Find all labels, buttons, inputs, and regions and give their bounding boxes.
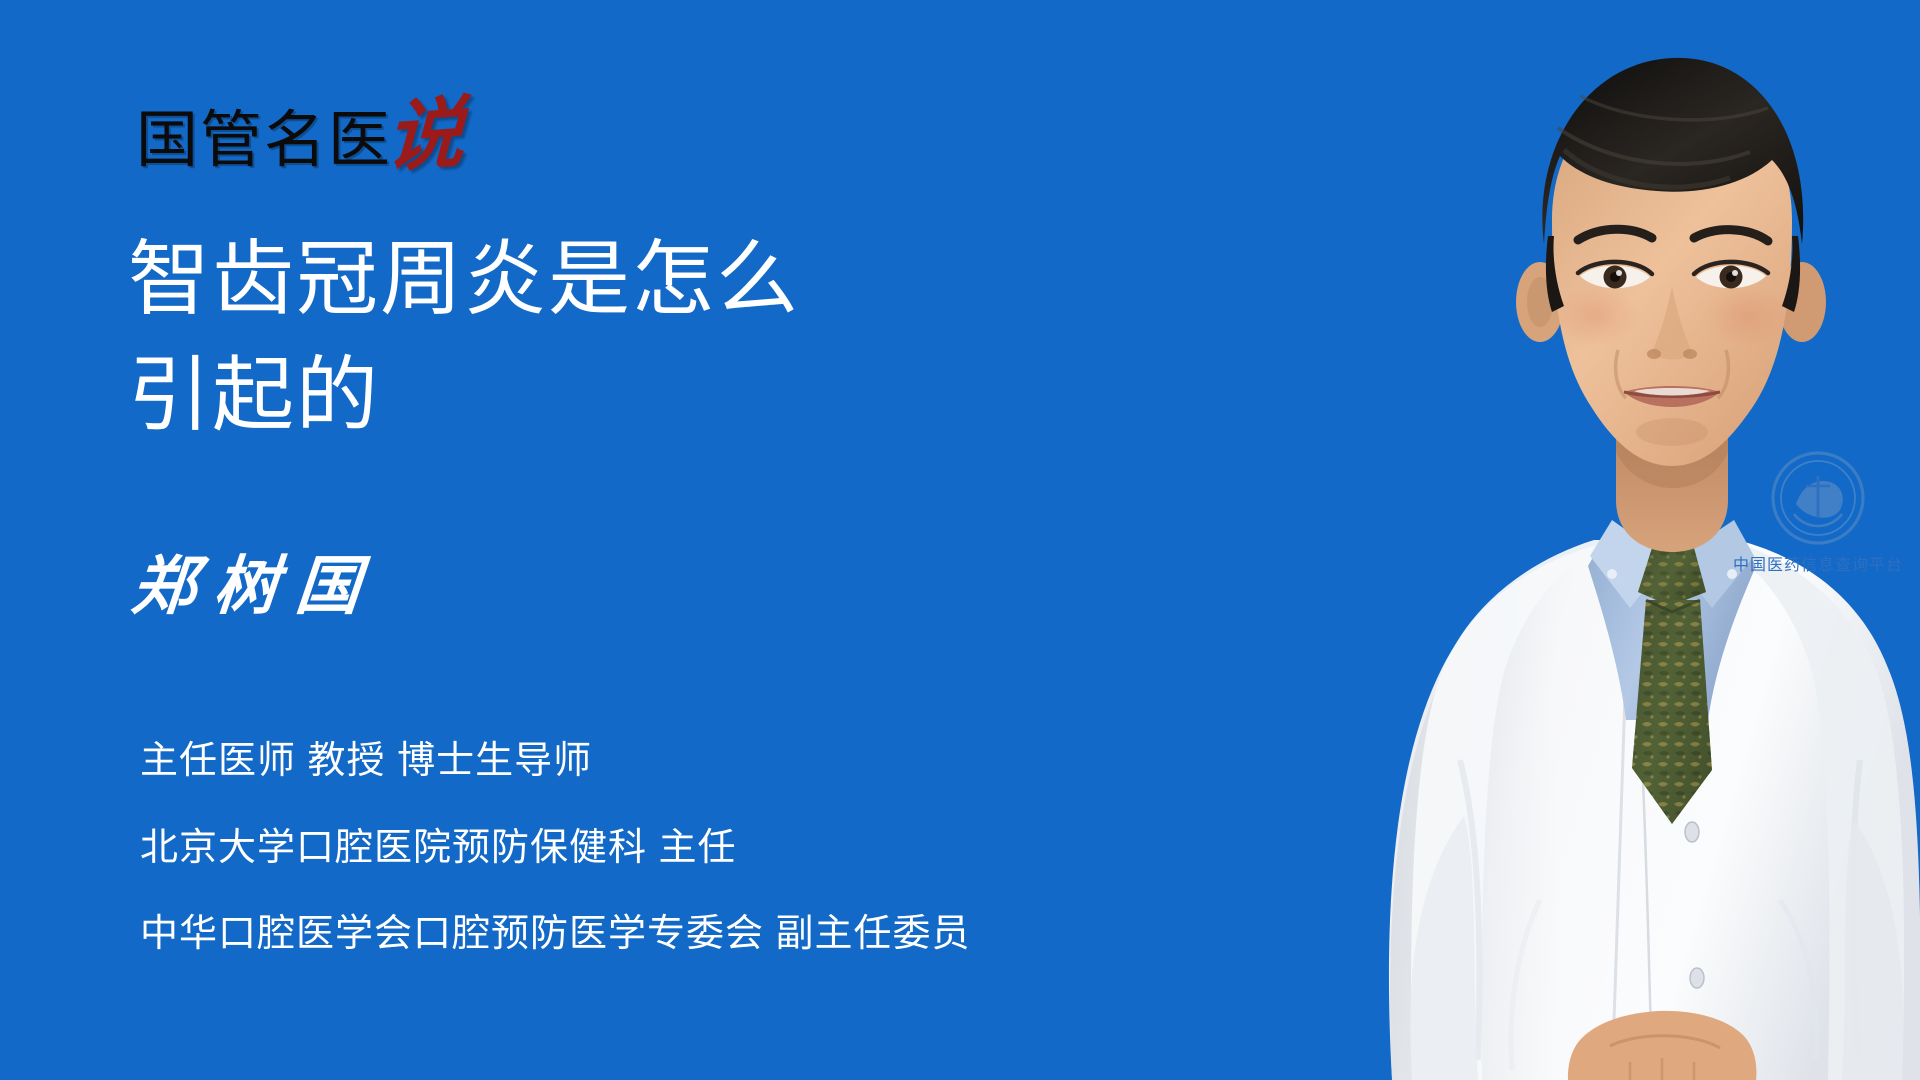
doctor-credentials: 主任医师 教授 博士生导师 北京大学口腔医院预防保健科 主任 中华口腔医学会口腔… [140,718,1200,978]
necktie [1632,548,1712,824]
headline: 智齿冠周炎是怎么 引起的 [128,222,1088,455]
coat-badge-text: 中国医药信息查询平台 [1733,556,1903,574]
headline-line-2: 引起的 [128,338,1088,454]
credential-line-3: 中华口腔医学会口腔预防医学专委会 副主任委员 [140,891,1200,978]
headline-line-1: 智齿冠周炎是怎么 [128,222,1088,338]
brand-logo: 国管名医 说 [136,92,464,172]
brand-logo-main-text: 国管名医 [136,110,392,172]
brand-logo-accent-text: 说 [385,98,466,175]
credential-line-1: 主任医师 教授 博士生导师 [140,718,1200,805]
promo-card: 国管名医 说 智齿冠周炎是怎么 引起的 郑树国 主任医师 教授 博士生导师 北京… [0,0,1920,1080]
credential-line-2: 北京大学口腔医院预防保健科 主任 [140,805,1200,892]
doctor-portrait: 中国医药信息查询平台 [1160,0,1920,1080]
doctor-name: 郑树国 [129,555,381,619]
